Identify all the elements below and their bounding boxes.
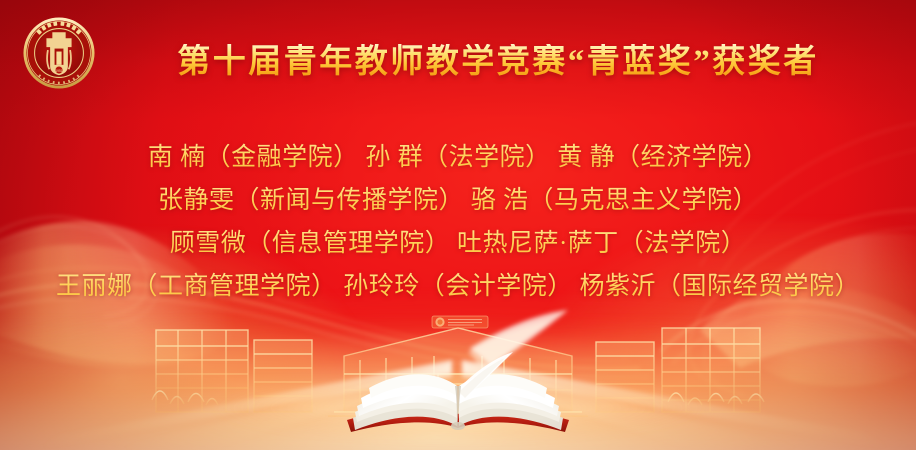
awardee-line: 王丽娜（工商管理学院） 孙玲玲（会计学院） 杨紫沂（国际经贸学院）	[56, 265, 860, 308]
page-title-text: 第十届青年教师教学竞赛“青蓝奖”获奖者	[177, 44, 819, 82]
awardee-list: 南 楠（金融学院） 孙 群（法学院） 黄 静（经济学院） 张静雯（新闻与传播学院…	[0, 136, 916, 308]
poster-header: 1951 第十届青年教师教学竞赛“青蓝奖”获奖者	[0, 0, 916, 118]
award-poster: 1951 第十届青年教师教学竞赛“青蓝奖”获奖者 南 楠（金融学院） 孙 群（法…	[0, 0, 916, 450]
awardee-line: 张静雯（新闻与传播学院） 骆 浩（马克思主义学院）	[158, 179, 758, 222]
page-title: 第十届青年教师教学竞赛“青蓝奖”获奖者	[120, 36, 876, 90]
university-emblem-icon: 1951	[22, 16, 96, 90]
awardee-line: 南 楠（金融学院） 孙 群（法学院） 黄 静（经济学院）	[148, 136, 768, 179]
awardee-line: 顾雪微（信息管理学院） 吐热尼萨·萨丁（法学院）	[170, 222, 747, 265]
svg-text:1951: 1951	[55, 69, 62, 73]
